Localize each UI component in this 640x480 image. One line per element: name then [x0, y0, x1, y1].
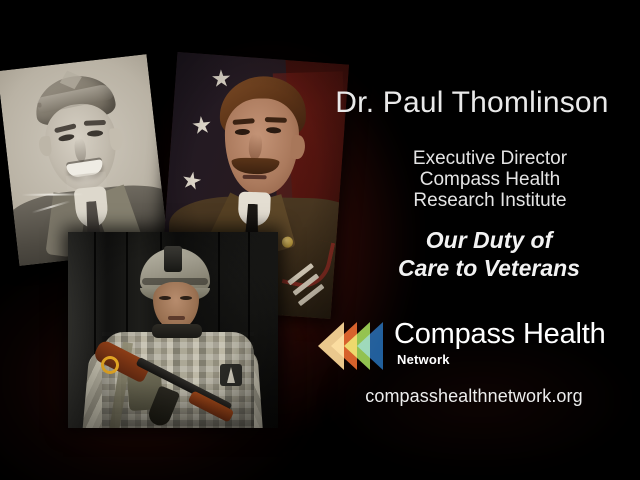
speaker-name: Dr. Paul Thomlinson: [312, 86, 632, 120]
affiliation-line-3: Research Institute: [352, 190, 628, 211]
chevron-4-icon: [357, 322, 383, 370]
talk-title: Our Duty of Care to Veterans: [350, 226, 628, 282]
logo-wordmark: Compass Health: [394, 318, 606, 351]
logo-sub-wordmark: Network: [397, 352, 450, 367]
talk-title-line-2: Care to Veterans: [350, 254, 628, 282]
talk-title-line-1: Our Duty of: [350, 226, 628, 254]
photo-soldier-acu-rifle: [68, 232, 278, 428]
eyebrow-right: [84, 120, 106, 126]
affiliation-line-2: Compass Health: [352, 169, 628, 190]
photo-blemish: [37, 102, 42, 107]
affiliation-line-1: Executive Director: [352, 148, 628, 169]
organization-url: compasshealthnetwork.org: [318, 386, 630, 407]
compass-health-logo: Compass Health Network: [318, 318, 630, 374]
presentation-slide: Dr. Paul Thomlinson Executive Director C…: [0, 0, 640, 480]
photo-vignette: [68, 232, 278, 428]
speaker-affiliation: Executive Director Compass Health Resear…: [352, 148, 628, 211]
compass-chevrons-icon: [318, 322, 384, 370]
